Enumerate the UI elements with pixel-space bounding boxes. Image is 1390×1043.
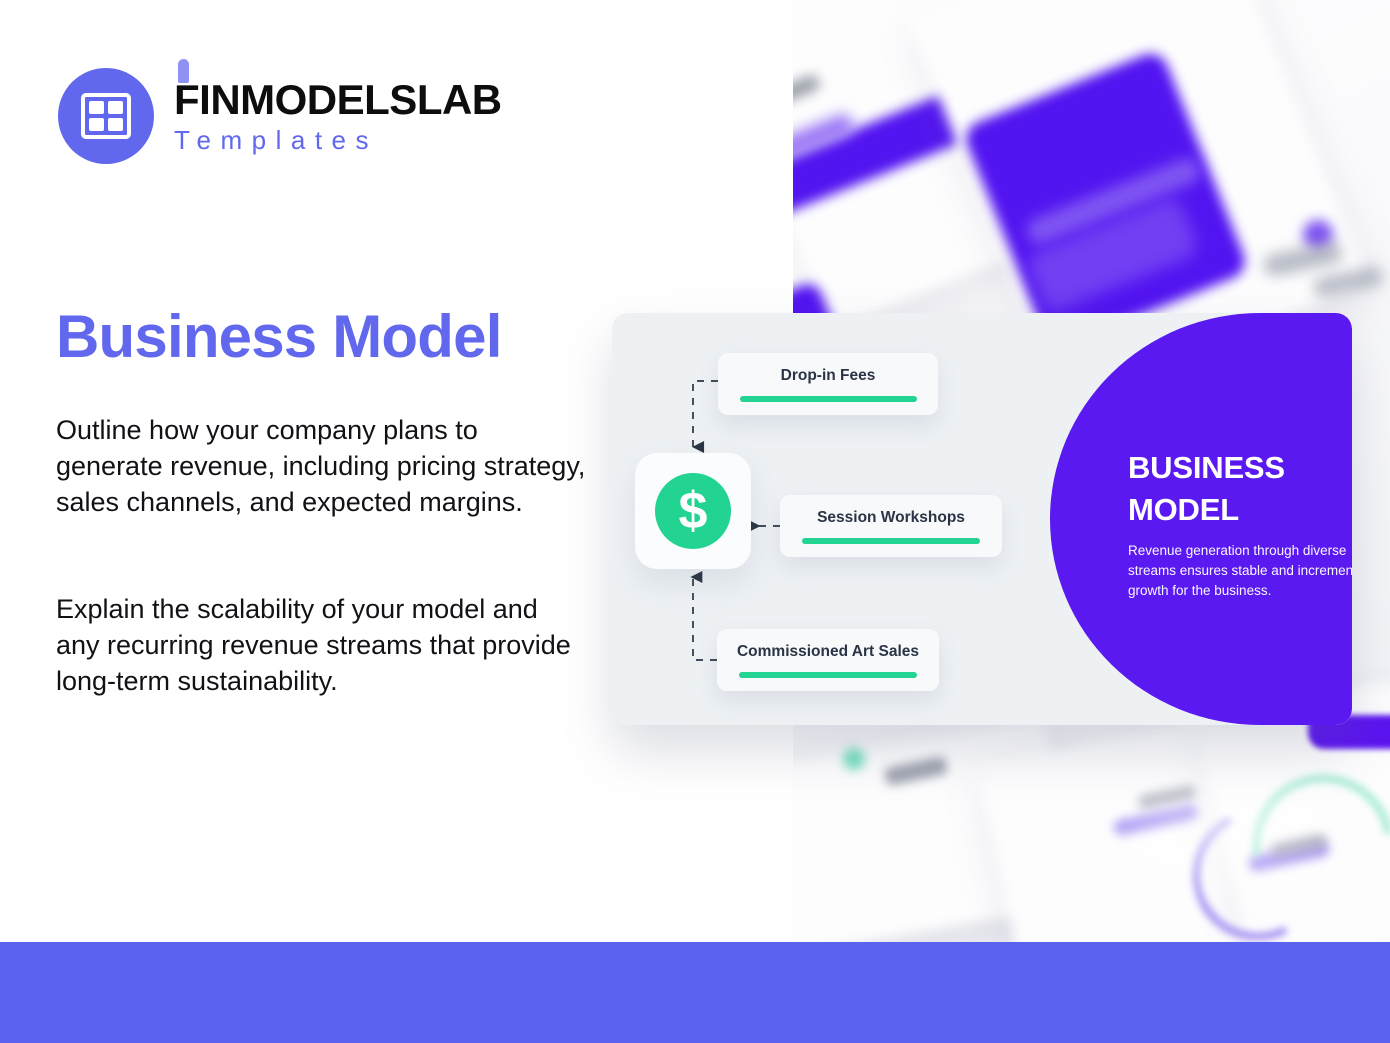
brand-logo: FINMODELSLAB Templates xyxy=(58,68,502,164)
node-session-workshops[interactable]: Session Workshops xyxy=(780,495,1002,557)
summary-panel-body: Revenue generation through diverse strea… xyxy=(1128,541,1352,601)
footer-bar xyxy=(0,942,1390,1043)
node-label: Commissioned Art Sales xyxy=(737,643,919,661)
node-accent-bar xyxy=(802,538,980,544)
location-pin-icon xyxy=(178,59,189,83)
brand-name: FINMODELSLAB xyxy=(174,79,502,121)
node-accent-bar xyxy=(740,396,917,402)
summary-title-line-1: BUSINESS xyxy=(1128,447,1338,489)
revenue-hub: $ xyxy=(635,453,751,569)
node-label: Session Workshops xyxy=(817,509,965,527)
diagram-card: $ Drop-in Fees Session Workshops Commiss… xyxy=(612,313,1352,725)
body-paragraph-2: Explain the scalability of your model an… xyxy=(56,591,586,699)
grid-logo-icon xyxy=(58,68,154,164)
node-drop-in-fees[interactable]: Drop-in Fees xyxy=(718,353,938,415)
dollar-sign-icon: $ xyxy=(655,473,731,549)
brand-tagline: Templates xyxy=(174,127,502,153)
slide-canvas: FINMODELSLAB Templates Business Model Ou… xyxy=(0,0,1390,1043)
body-paragraph-1: Outline how your company plans to genera… xyxy=(56,412,586,520)
bg-slide-shape xyxy=(843,748,865,770)
node-commissioned-art-sales[interactable]: Commissioned Art Sales xyxy=(717,629,939,691)
summary-title-line-2: MODEL xyxy=(1128,489,1338,531)
node-label: Drop-in Fees xyxy=(781,367,876,385)
page-title: Business Model xyxy=(56,302,502,371)
summary-panel-title: BUSINESS MODEL xyxy=(1128,447,1338,531)
node-accent-bar xyxy=(739,672,917,678)
summary-panel: BUSINESS MODEL Revenue generation throug… xyxy=(1050,313,1352,725)
